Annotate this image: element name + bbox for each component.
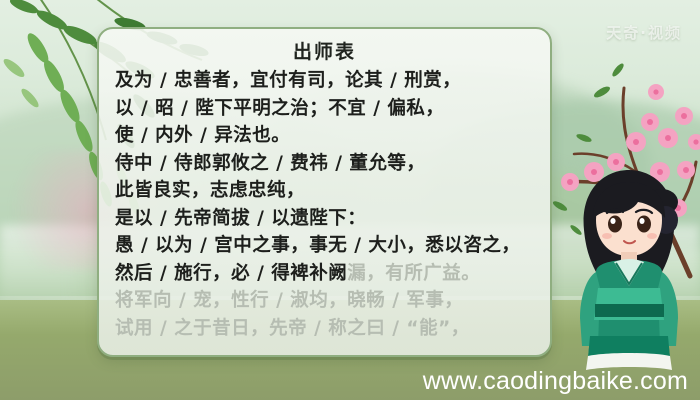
lyrics-line: 是以 / 先帝简拔 / 以遗陛下： [115, 205, 547, 233]
lyrics-line: 此皆良实，志虑忠纯， [115, 177, 547, 205]
lyrics-line: 侍中 / 侍郎郭攸之 / 费祎 / 董允等， [115, 150, 547, 178]
site-url-watermark: www.caodingbaike.com [423, 367, 688, 396]
lyrics-line: 以 / 昭 / 陛下平明之治；不宜 / 偏私， [115, 95, 547, 123]
video-frame: 出师表 及为 / 忠善者，宜付有司，论其 / 刑赏， 以 / 昭 / 陛下平明之… [0, 0, 700, 400]
page-title: 出师表 [99, 37, 550, 64]
lyrics-line: 试用 / 之于昔日，先帝 / 称之曰 / “能”， [115, 315, 547, 343]
lyrics-highlight: 然后 / 施行，必 / 得裨补阙 [115, 263, 347, 284]
lyrics-line-active: 然后 / 施行，必 / 得裨补阙漏，有所广益。 [115, 260, 547, 288]
lyrics-line: 及为 / 忠善者，宜付有司，论其 / 刑赏， [115, 67, 547, 95]
lyrics-remainder: 漏，有所广益。 [347, 263, 480, 284]
lyrics-lines: 及为 / 忠善者，宜付有司，论其 / 刑赏， 以 / 昭 / 陛下平明之治；不宜… [115, 67, 547, 342]
lyrics-card: 出师表 及为 / 忠善者，宜付有司，论其 / 刑赏， 以 / 昭 / 陛下平明之… [97, 27, 552, 357]
lyrics-line: 使 / 内外 / 异法也。 [115, 122, 547, 150]
lyrics-line: 愚 / 以为 / 宫中之事，事无 / 大小，悉以咨之， [115, 232, 547, 260]
channel-watermark: 天奇·视频 [606, 22, 682, 43]
hanfu-girl-character [566, 168, 692, 383]
lyrics-line: 将军向 / 宠，性行 / 淑均，晓畅 / 军事， [115, 287, 547, 315]
